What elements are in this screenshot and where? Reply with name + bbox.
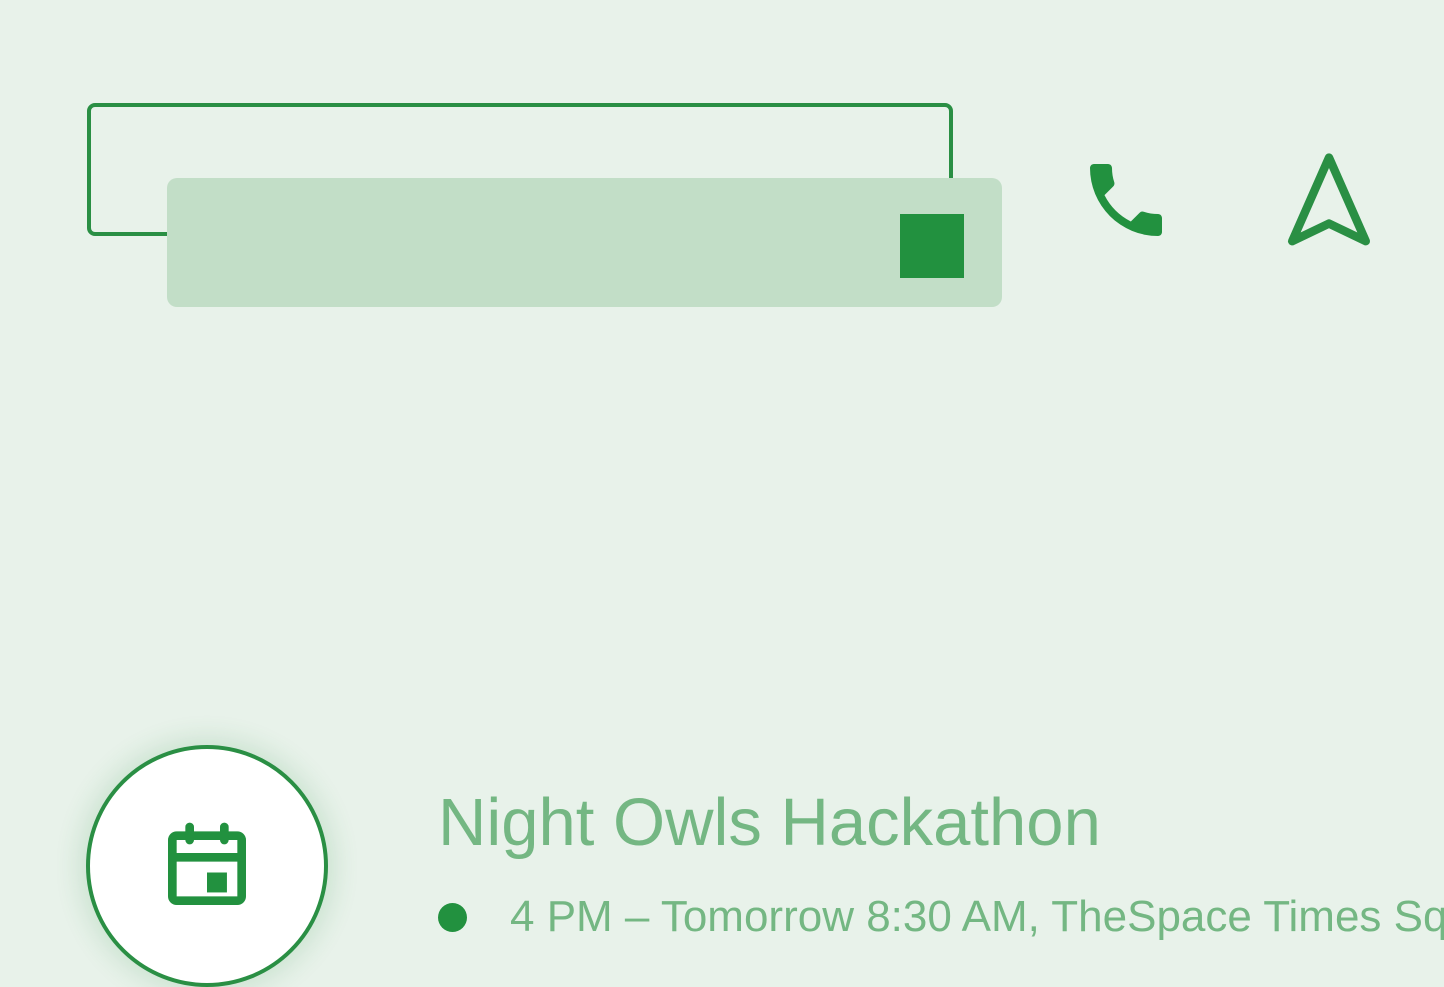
- avatar: [86, 745, 328, 987]
- slider-region: [0, 0, 1444, 360]
- event-meta-row: 4 PM – Tomorrow 8:30 AM, TheSpace Times …: [438, 884, 1444, 950]
- event-meta-text: 4 PM – Tomorrow 8:30 AM, TheSpace Times …: [510, 889, 1444, 945]
- event-card[interactable]: Night Owls Hackathon 4 PM – Tomorrow 8:3…: [0, 360, 1444, 720]
- slider-track[interactable]: [167, 178, 1002, 307]
- event-title: Night Owls Hackathon: [438, 784, 1101, 862]
- calendar-icon: [155, 814, 259, 918]
- slider-thumb[interactable]: [900, 214, 964, 278]
- screen-root: Night Owls Hackathon 4 PM – Tomorrow 8:3…: [0, 0, 1444, 720]
- status-dot-icon: [438, 903, 467, 932]
- phone-icon[interactable]: [1078, 152, 1174, 248]
- navigation-arrow-icon[interactable]: [1283, 147, 1375, 251]
